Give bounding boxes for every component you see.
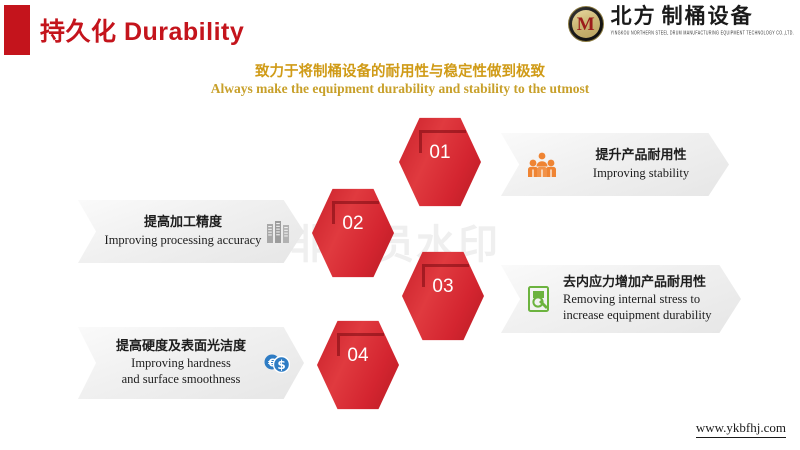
step-title-en-04-line2: and surface smoothness	[104, 371, 258, 387]
footer-url[interactable]: www.ykbfhj.com	[696, 420, 786, 438]
step-title-cn-03: 去内应力增加产品耐用性	[563, 275, 727, 291]
company-logo: M 北方制桶设备 YINGKOU NORTHERN STEEL DRUM MAN…	[568, 5, 794, 47]
logo-name-en: YINGKOU NORTHERN STEEL DRUM MANUFACTURIN…	[611, 30, 794, 36]
step-title-en-04-line1: Improving hardness	[104, 355, 258, 371]
people-group-icon	[527, 152, 557, 178]
header-accent-bar	[4, 5, 30, 55]
document-search-icon	[527, 285, 553, 313]
page-title: 持久化 Durability	[40, 12, 244, 48]
logo-name-cn-part1: 北方	[611, 4, 657, 28]
step-hexagon-01: 01	[399, 116, 481, 208]
step-title-cn-02: 提高加工精度	[104, 215, 262, 231]
step-title-cn-04: 提高硬度及表面光洁度	[104, 339, 258, 355]
step-title-en-01: Improving stability	[567, 165, 715, 181]
step-hexagon-04: 04	[317, 319, 399, 411]
coins-icon: € $	[262, 352, 290, 374]
step-card-01[interactable]: 提升产品耐用性 Improving stability	[501, 133, 729, 196]
logo-name-cn: 北方制桶设备	[611, 5, 794, 27]
step-number-04: 04	[317, 345, 399, 367]
step-number-03: 03	[402, 276, 484, 298]
logo-badge-letter: M	[577, 15, 595, 34]
step-number-02: 02	[312, 213, 394, 235]
step-number-01: 01	[399, 142, 481, 164]
building-bars-icon	[266, 220, 290, 244]
step-card-02[interactable]: 提高加工精度 Improving processing accuracy	[78, 200, 304, 263]
logo-text: 北方制桶设备 YINGKOU NORTHERN STEEL DRUM MANUF…	[611, 5, 794, 34]
logo-badge-icon: M	[568, 6, 604, 42]
step-title-en-03-line2: increase equipment durability	[563, 307, 727, 323]
subtitle-cn: 致力于将制桶设备的耐用性与稳定性做到极致	[0, 60, 800, 81]
step-title-en-03-line1: Removing internal stress to	[563, 291, 727, 307]
slide-canvas: 持久化 Durability M 北方制桶设备 YINGKOU NORTHERN…	[0, 0, 800, 450]
svg-text:$: $	[277, 358, 285, 372]
step-title-cn-01: 提升产品耐用性	[567, 148, 715, 164]
logo-name-cn-part2: 制桶设备	[662, 4, 754, 28]
step-card-03[interactable]: 去内应力增加产品耐用性 Removing internal stress to …	[501, 265, 741, 333]
step-card-04[interactable]: 提高硬度及表面光洁度 Improving hardness and surfac…	[78, 327, 304, 399]
subtitle-en: Always make the equipment durability and…	[0, 81, 800, 97]
step-title-en-02: Improving processing accuracy	[104, 232, 262, 248]
